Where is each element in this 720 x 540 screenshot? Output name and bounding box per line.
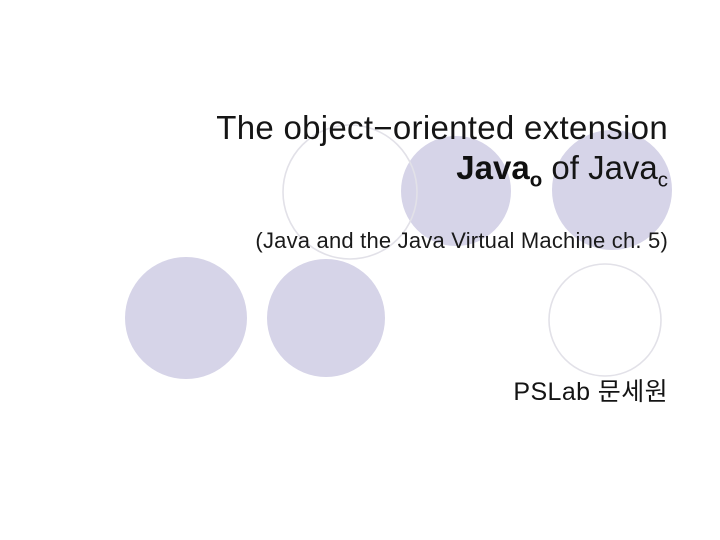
java-o-base: Java xyxy=(456,149,529,186)
java-c-base: Java xyxy=(588,149,658,186)
java-o-subscript: o xyxy=(530,169,542,192)
slide-subtitle: (Java and the Java Virtual Machine ch. 5… xyxy=(60,228,668,254)
title-line-1: The object−oriented extension xyxy=(60,108,668,148)
title-connector-of: of xyxy=(542,149,588,186)
title-line-2: Javao of Javac xyxy=(60,148,668,188)
java-c-subscript: c xyxy=(658,169,668,192)
slide-title: The object−oriented extension Javao of J… xyxy=(60,108,668,189)
slide-author: PSLab 문세원 xyxy=(60,372,668,408)
presentation-slide: The object−oriented extension Javao of J… xyxy=(0,0,720,540)
slide-content: The object−oriented extension Javao of J… xyxy=(0,0,720,540)
